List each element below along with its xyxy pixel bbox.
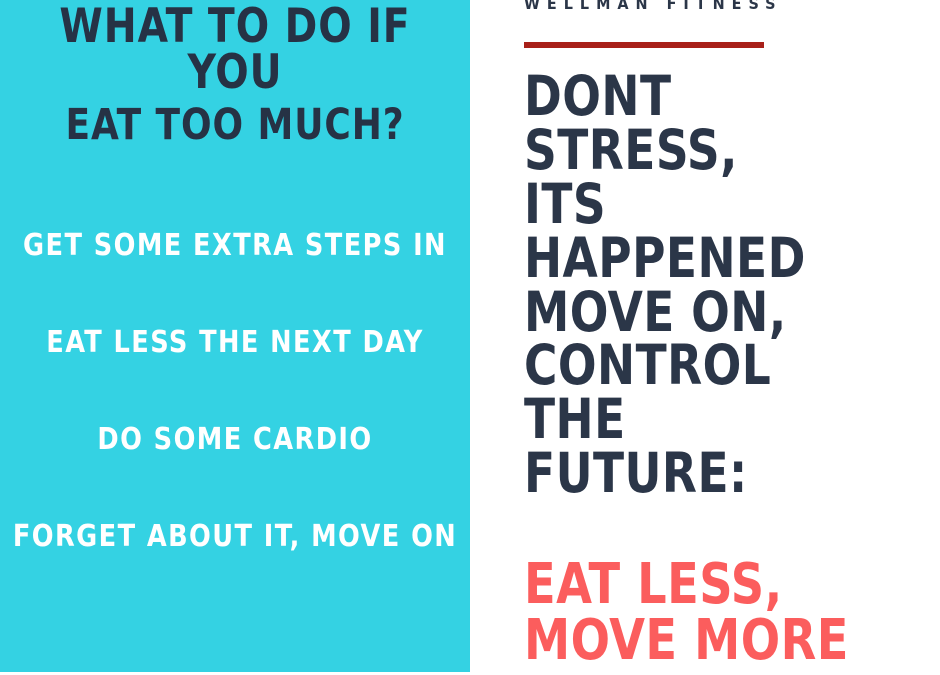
callout-line-2: move more bbox=[524, 613, 888, 669]
list-item: Get some extra steps in bbox=[12, 228, 459, 263]
statement-line-4: control the bbox=[524, 339, 888, 447]
headline: What to do if you eat too much? bbox=[33, 0, 437, 146]
poster-canvas: What to do if you eat too much? Get some… bbox=[0, 0, 940, 675]
right-white-panel: Wellman Fitness Dont stress, its happene… bbox=[470, 0, 940, 675]
callout-line-1: Eat less, bbox=[524, 557, 888, 613]
headline-line-1: What to do if you bbox=[59, 0, 410, 100]
main-statement: Dont stress, its happened move on, contr… bbox=[524, 48, 888, 501]
brand-title: Wellman Fitness bbox=[524, 0, 920, 12]
headline-line-2: eat too much? bbox=[33, 104, 437, 146]
advice-list: Get some extra steps in eat less the nex… bbox=[0, 228, 470, 554]
list-item: eat less the next day bbox=[12, 325, 459, 360]
left-cyan-panel: What to do if you eat too much? Get some… bbox=[0, 0, 470, 672]
list-item: forget about it, move on bbox=[12, 519, 459, 554]
statement-line-3: move on, bbox=[524, 286, 888, 340]
statement-line-2: its happened bbox=[524, 178, 888, 286]
statement-line-1: Dont stress, bbox=[524, 70, 888, 178]
callout-statement: Eat less, move more bbox=[524, 501, 888, 669]
statement-line-5: future: bbox=[524, 447, 888, 501]
list-item: do some cardio bbox=[12, 422, 459, 457]
